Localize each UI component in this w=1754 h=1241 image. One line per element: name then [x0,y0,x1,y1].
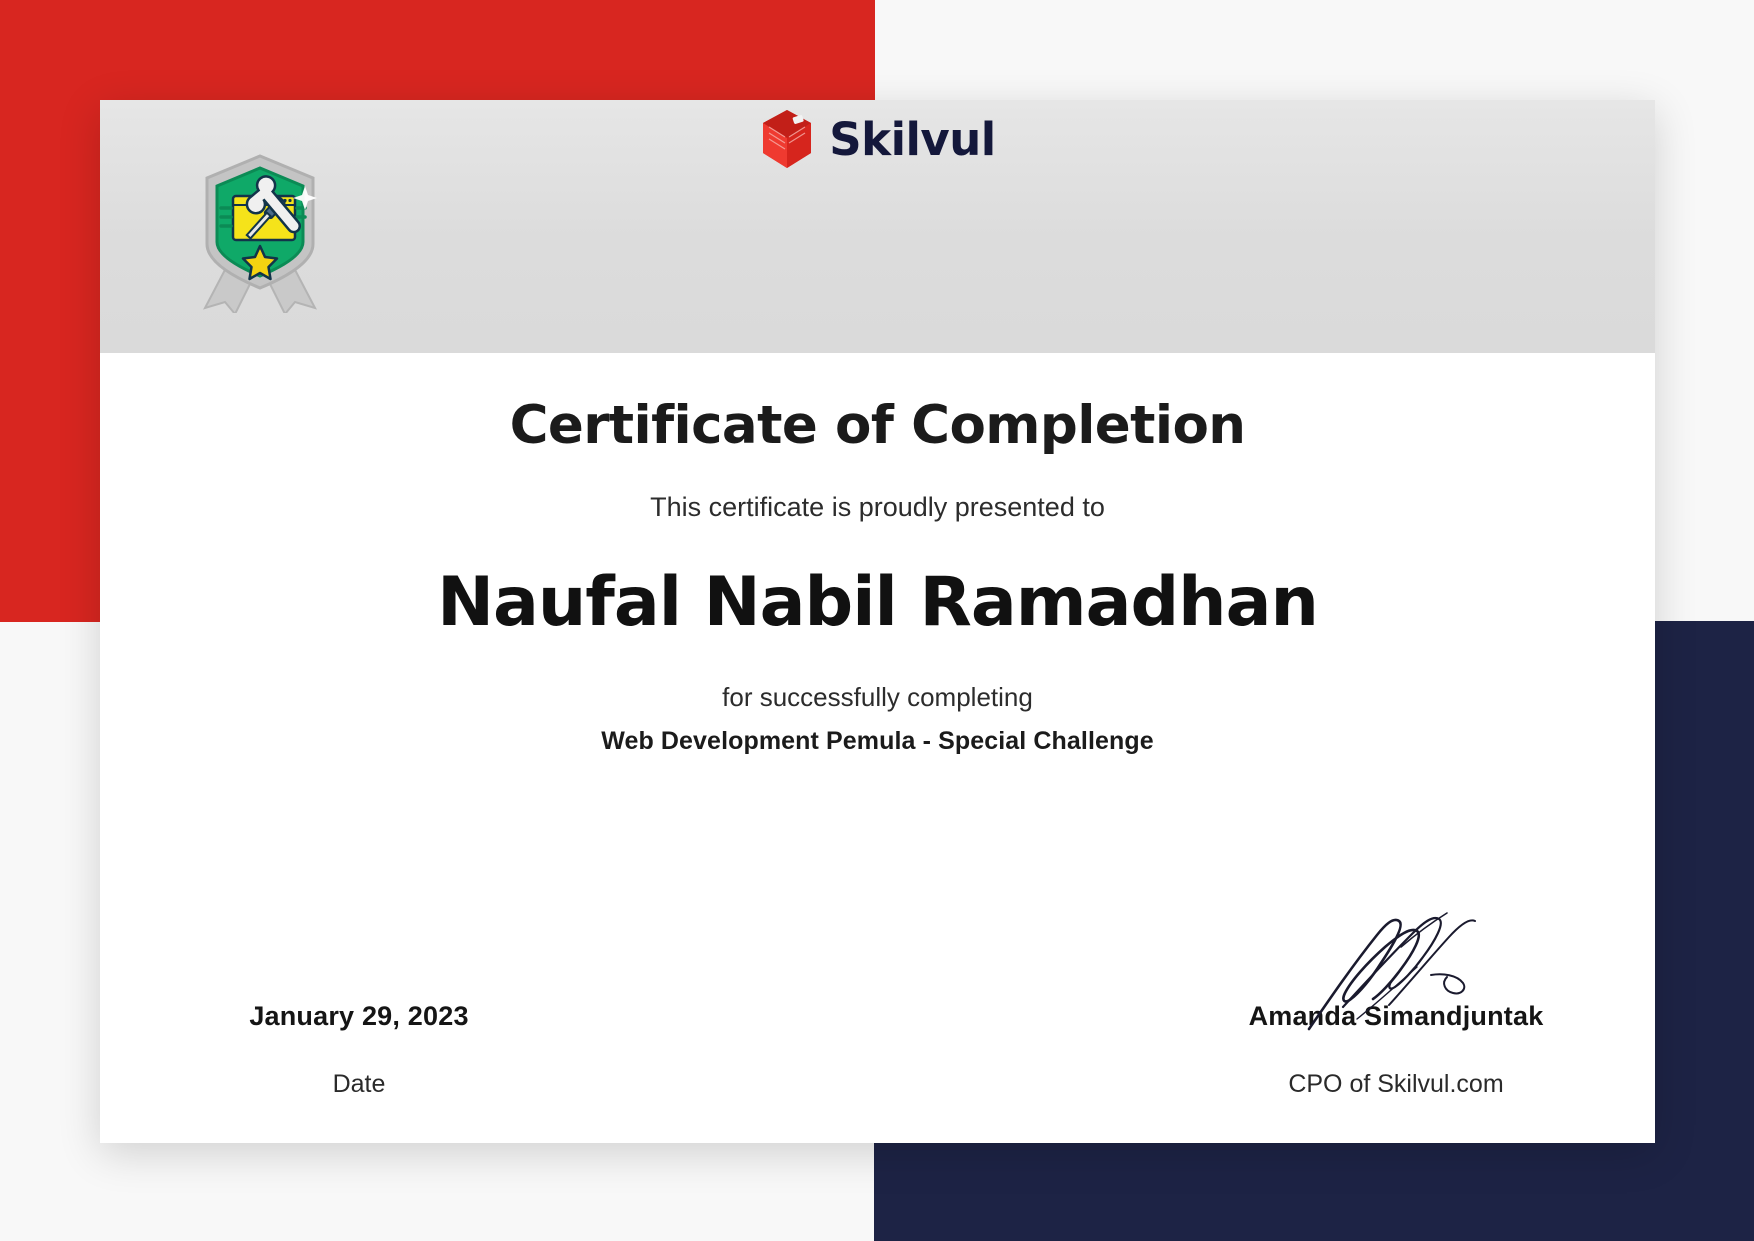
handwritten-signature-icon [1281,887,1511,1037]
certificate-subtitle: This certificate is proudly presented to [144,492,1611,523]
issue-date-value: January 29, 2023 [144,1001,574,1032]
date-block: January 29, 2023 Date [144,1001,574,1099]
skilvul-cube-logo-icon [759,108,815,170]
page-title: Certificate of Completion [144,395,1611,456]
certificate-card: Skilvul [100,100,1655,1143]
signatory-role: CPO of Skilvul.com [1181,1070,1611,1099]
signature-zone: January 29, 2023 Date [144,1001,1611,1099]
course-name: Web Development Pemula - Special Challen… [144,727,1611,756]
page-root: Skilvul [0,0,1754,1241]
certificate-body: Certificate of Completion This certifica… [100,395,1655,1143]
completion-prefix: for successfully completing [144,682,1611,713]
signatory-block: Amanda Simandjuntak CPO of Skilvul.com [1181,1001,1611,1099]
brand-name: Skilvul [829,113,995,166]
web-development-shield-badge-icon [185,148,335,313]
recipient-name: Naufal Nabil Ramadhan [144,563,1611,642]
issue-date-label: Date [144,1070,574,1099]
certificate-header: Skilvul [100,100,1655,353]
